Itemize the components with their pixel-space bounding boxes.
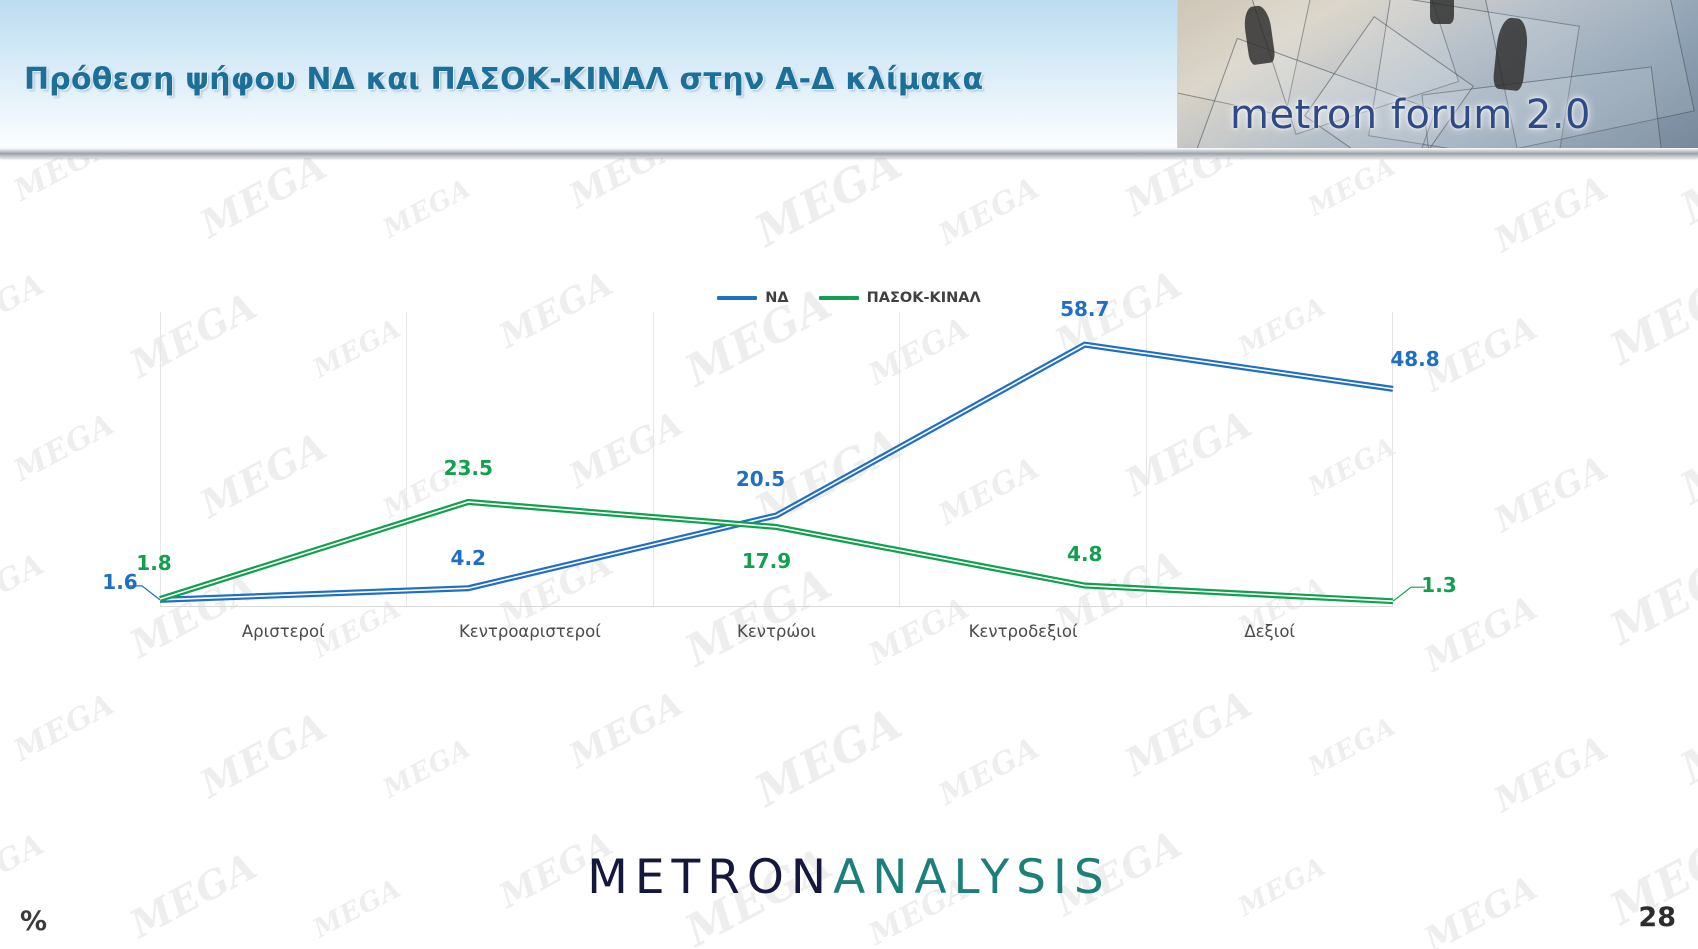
data-label-nd-1: 4.2 (451, 546, 486, 570)
data-label-pasok-kinal-1: 23.5 (444, 456, 493, 480)
legend-label-pasok-kinal: ΠΑΣΟΚ-ΚΙΝΑΛ (867, 290, 981, 306)
metron-forum-logo: metron forum 2.0 (1177, 0, 1698, 152)
data-label-pasok-kinal-2: 17.9 (742, 549, 791, 573)
logo-wordmark: metron forum 2.0 (1230, 92, 1591, 138)
unit-label: % (20, 906, 47, 937)
data-label-pasok-kinal-0: 1.8 (136, 551, 171, 575)
x-label-3: Κεντροδεξιοί (900, 622, 1147, 652)
plot-area: 1.64.220.558.748.81.823.517.94.81.3 (160, 312, 1393, 607)
x-label-1: Κεντροαριστεροί (407, 622, 654, 652)
data-label-pasok-kinal-3: 4.8 (1067, 542, 1102, 566)
figure-silhouette-center (1430, 0, 1454, 24)
x-label-2: Κεντρώοι (653, 622, 900, 652)
chart-legend: ΝΔ ΠΑΣΟΚ-ΚΙΝΑΛ (0, 290, 1698, 306)
legend-swatch-pasok-kinal (819, 296, 859, 300)
chart-container: ΝΔ ΠΑΣΟΚ-ΚΙΝΑΛ 1.64.220.558.748.81.823.5… (0, 158, 1698, 798)
data-label-nd-2: 20.5 (736, 467, 785, 491)
slide-header: Πρόθεση ψήφου ΝΔ και ΠΑΣΟΚ-ΚΙΝΑΛ στην Α-… (0, 0, 1698, 158)
legend-item-pasok-kinal[interactable]: ΠΑΣΟΚ-ΚΙΝΑΛ (819, 290, 981, 306)
legend-swatch-nd (717, 296, 757, 300)
brand-metron: METRON (587, 850, 833, 905)
legend-item-nd[interactable]: ΝΔ (717, 290, 788, 306)
page-title: Πρόθεση ψήφου ΝΔ και ΠΑΣΟΚ-ΚΙΝΑΛ στην Α-… (24, 62, 983, 97)
x-label-4: Δεξιοί (1146, 622, 1393, 652)
data-label-nd-0: 1.6 (102, 570, 137, 594)
slide-footer: METRONANALYSIS % 28 (0, 798, 1698, 949)
header-divider (0, 148, 1698, 158)
page-number: 28 (1638, 902, 1676, 933)
x-label-0: Αριστεροί (160, 622, 407, 652)
data-label-nd-4: 48.8 (1390, 347, 1439, 371)
metron-analysis-logo: METRONANALYSIS (587, 850, 1110, 905)
brand-analysis: ANALYSIS (833, 850, 1111, 905)
legend-label-nd: ΝΔ (765, 290, 788, 306)
data-label-pasok-kinal-4: 1.3 (1421, 573, 1456, 597)
data-label-nd-3: 58.7 (1060, 297, 1109, 321)
x-axis-labels: Αριστεροί Κεντροαριστεροί Κεντρώοι Κεντρ… (160, 622, 1393, 652)
